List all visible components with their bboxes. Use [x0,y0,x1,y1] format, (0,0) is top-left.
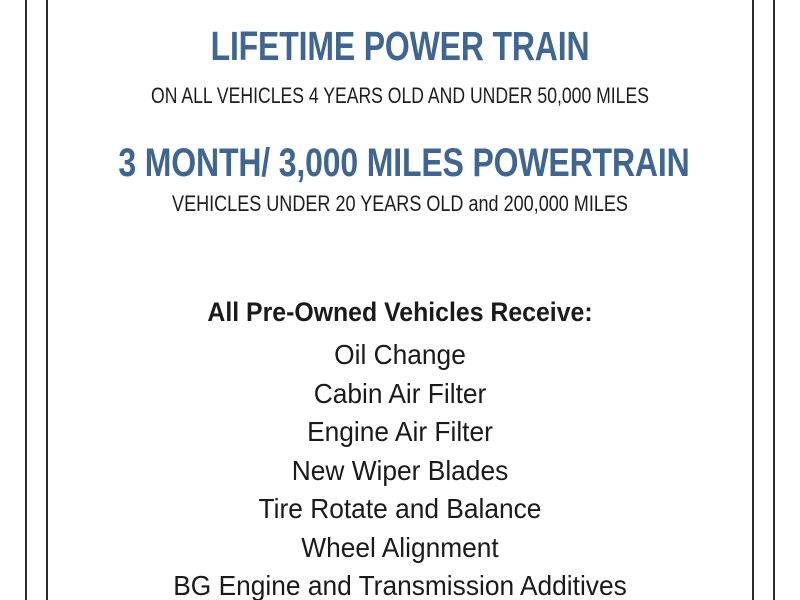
included-services-list: Oil Change Cabin Air Filter Engine Air F… [48,336,752,600]
list-item: BG Engine and Transmission Additives [69,567,731,600]
border-rule-right-outer [773,0,775,600]
border-rule-right-inner [752,0,754,600]
list-item: Oil Change [69,336,731,375]
list-item: Tire Rotate and Balance [69,490,731,529]
flyer-content: LIFETIME POWER TRAIN ON ALL VEHICLES 4 Y… [48,0,752,600]
included-services-heading: All Pre-Owned Vehicles Receive: [76,298,724,327]
border-rule-left-outer [25,0,27,600]
list-item: Cabin Air Filter [69,375,731,414]
lifetime-powertrain-subtitle: ON ALL VEHICLES 4 YEARS OLD AND UNDER 50… [118,85,681,107]
three-month-powertrain-subtitle: VEHICLES UNDER 20 YEARS OLD and 200,000 … [111,193,688,215]
lifetime-powertrain-headline: LIFETIME POWER TRAIN [125,26,674,67]
list-item: Engine Air Filter [69,413,731,452]
included-services-section: All Pre-Owned Vehicles Receive: Oil Chan… [48,298,752,600]
flyer-page: LIFETIME POWER TRAIN ON ALL VEHICLES 4 Y… [0,0,800,600]
list-item: New Wiper Blades [69,452,731,491]
list-item: Wheel Alignment [69,529,731,568]
three-month-powertrain-headline: 3 MONTH/ 3,000 MILES POWERTRAIN [118,143,681,183]
